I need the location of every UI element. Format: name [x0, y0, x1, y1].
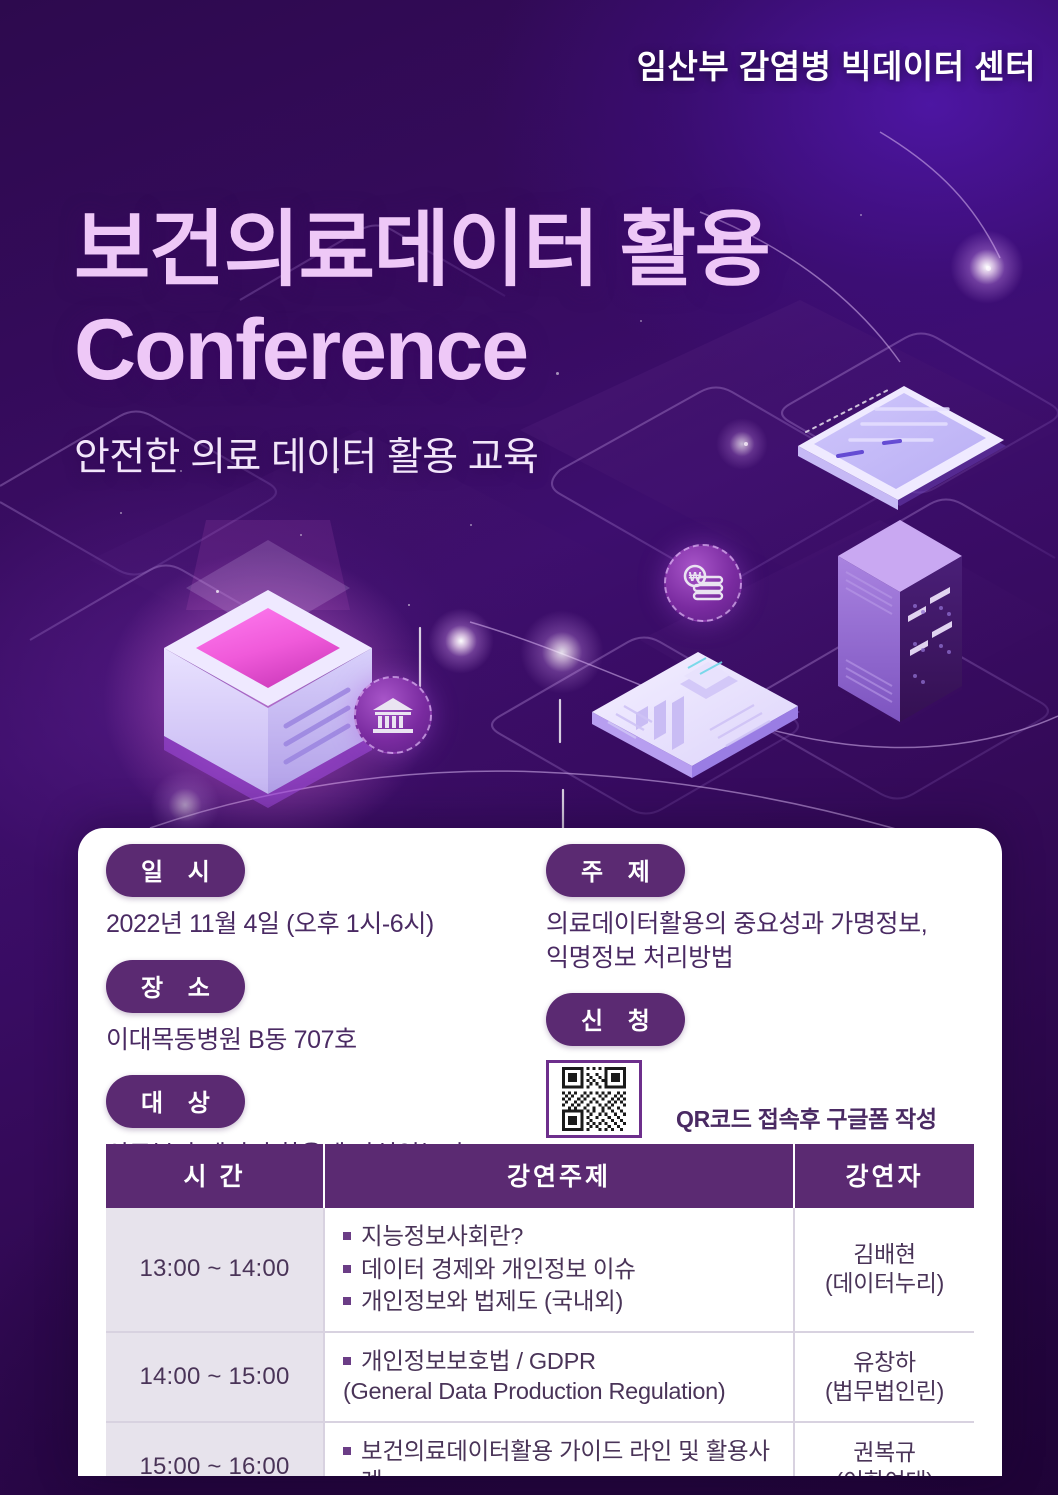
speaker-name: 권복규 [799, 1438, 970, 1467]
schedule-table-body: 13:00 ~ 14:00지능정보사회란?데이터 경제와 개인정보 이슈개인정보… [106, 1208, 974, 1476]
star [470, 524, 472, 526]
bullet-square-icon [343, 1265, 351, 1273]
topic-bullet-line: 개인정보와 법제도 (국내외) [343, 1286, 781, 1317]
light-flare [520, 610, 604, 694]
topic-bullet-line: 데이터 경제와 개인정보 이슈 [343, 1254, 781, 1285]
col-header-speaker: 강연자 [794, 1144, 974, 1208]
topic-label: 주 제 [546, 844, 685, 897]
topic-continuation-text: (General Data Production Regulation) [343, 1376, 781, 1407]
poster-title-line1: 보건의료데이터 활용 [74, 208, 974, 293]
place-label: 장 소 [106, 960, 245, 1013]
cell-speaker: 김배현(데이터누리) [794, 1208, 974, 1332]
schedule-header-row: 시 간 강연주제 강연자 [106, 1144, 974, 1208]
schedule-table-head: 시 간 강연주제 강연자 [106, 1144, 974, 1208]
apply-label: 신 청 [546, 993, 685, 1046]
info-block-place: 장 소 이대목동병원 B동 707호 [106, 960, 536, 1058]
date-label: 일 시 [106, 844, 245, 897]
cell-topic: 지능정보사회란?데이터 경제와 개인정보 이슈개인정보와 법제도 (국내외) [324, 1208, 794, 1332]
speaker-affiliation: (법무법인린) [799, 1377, 970, 1406]
schedule-section: 시 간 강연주제 강연자 13:00 ~ 14:00지능정보사회란?데이터 경제… [106, 1144, 974, 1476]
info-block-topic: 주 제 의료데이터활용의 중요성과 가명정보, 익명정보 처리방법 [546, 844, 976, 975]
table-row: 13:00 ~ 14:00지능정보사회란?데이터 경제와 개인정보 이슈개인정보… [106, 1208, 974, 1332]
won-coins-icon: ₩ [664, 544, 742, 622]
organization-name: 임산부 감염병 빅데이터 센터 [637, 40, 1036, 88]
qr-row: QR코드 접속후 구글폼 작성 [546, 1060, 976, 1138]
col-header-topic: 강연주제 [324, 1144, 794, 1208]
bank-icon [354, 676, 432, 754]
topic-bullet-line: 보건의료데이터활용 가이드 라인 및 활용사례 [343, 1436, 781, 1476]
star [300, 534, 302, 536]
topic-text: 보건의료데이터활용 가이드 라인 및 활용사례 [361, 1436, 781, 1476]
star [408, 604, 410, 606]
topic-value-line2: 익명정보 처리방법 [546, 944, 733, 972]
poster-root: ₩ 임산부 감염병 빅데이터 센터 보건의료데이터 활용 Conference … [0, 0, 1058, 1495]
star [986, 266, 991, 271]
speaker-affiliation: (데이터누리) [799, 1269, 970, 1298]
table-row: 14:00 ~ 15:00개인정보보호법 / GDPR(General Data… [106, 1332, 974, 1422]
cell-speaker: 유창하(법무법인린) [794, 1332, 974, 1422]
qr-code-icon[interactable] [546, 1060, 642, 1138]
bullet-square-icon [343, 1447, 351, 1455]
info-column-left: 일 시 2022년 11월 4일 (오후 1시-6시) 장 소 이대목동병원 B… [106, 844, 536, 1191]
star [120, 512, 122, 514]
info-column-right: 주 제 의료데이터활용의 중요성과 가명정보, 익명정보 처리방법 신 청 [546, 844, 976, 1156]
poster-header: 임산부 감염병 빅데이터 센터 [0, 0, 1058, 128]
topic-bullet-line: 개인정보보호법 / GDPR [343, 1346, 781, 1377]
cell-time: 14:00 ~ 15:00 [106, 1332, 324, 1422]
col-header-time: 시 간 [106, 1144, 324, 1208]
topic-value: 의료데이터활용의 중요성과 가명정보, 익명정보 처리방법 [546, 908, 976, 975]
topic-value-line1: 의료데이터활용의 중요성과 가명정보, [546, 910, 927, 938]
cell-time: 15:00 ~ 16:00 [106, 1422, 324, 1476]
info-block-date: 일 시 2022년 11월 4일 (오후 1시-6시) [106, 844, 536, 942]
topic-bullet-line: 지능정보사회란? [343, 1221, 781, 1252]
poster-title-line2: Conference [74, 307, 974, 395]
info-block-apply: 신 청 [546, 993, 976, 1138]
poster-subtitle: 안전한 의료 데이터 활용 교육 [74, 426, 974, 482]
info-card: 일 시 2022년 11월 4일 (오후 1시-6시) 장 소 이대목동병원 B… [78, 828, 1002, 1476]
topic-text: 데이터 경제와 개인정보 이슈 [361, 1254, 636, 1285]
cell-speaker: 권복규(이화여대) [794, 1422, 974, 1476]
cell-topic: 개인정보보호법 / GDPR(General Data Production R… [324, 1332, 794, 1422]
bullet-square-icon [343, 1297, 351, 1305]
star [216, 590, 219, 593]
topic-text: 개인정보와 법제도 (국내외) [361, 1286, 623, 1317]
info-grid: 일 시 2022년 11월 4일 (오후 1시-6시) 장 소 이대목동병원 B… [78, 828, 1002, 1128]
bullet-square-icon [343, 1357, 351, 1365]
table-row: 15:00 ~ 16:00보건의료데이터활용 가이드 라인 및 활용사례권복규(… [106, 1422, 974, 1476]
light-flare [428, 608, 494, 674]
bullet-square-icon [343, 1232, 351, 1240]
topic-text: 개인정보보호법 / GDPR [361, 1346, 596, 1377]
schedule-table: 시 간 강연주제 강연자 13:00 ~ 14:00지능정보사회란?데이터 경제… [106, 1144, 974, 1476]
qr-code-glyph [553, 1067, 635, 1131]
speaker-affiliation: (이화여대) [799, 1467, 970, 1476]
qr-caption: QR코드 접속후 구글폼 작성 [676, 1100, 937, 1138]
speaker-name: 김배현 [799, 1240, 970, 1269]
cell-time: 13:00 ~ 14:00 [106, 1208, 324, 1332]
place-value: 이대목동병원 B동 707호 [106, 1024, 536, 1058]
bank-icon-glyph [371, 695, 415, 735]
topic-text: 지능정보사회란? [361, 1221, 523, 1252]
audience-label: 대 상 [106, 1075, 245, 1128]
won-coins-icon-glyph: ₩ [680, 563, 726, 603]
hero-section: 보건의료데이터 활용 Conference 안전한 의료 데이터 활용 교육 [74, 208, 974, 482]
cell-topic: 보건의료데이터활용 가이드 라인 및 활용사례 [324, 1422, 794, 1476]
date-value: 2022년 11월 4일 (오후 1시-6시) [106, 908, 536, 942]
speaker-name: 유창하 [799, 1348, 970, 1377]
